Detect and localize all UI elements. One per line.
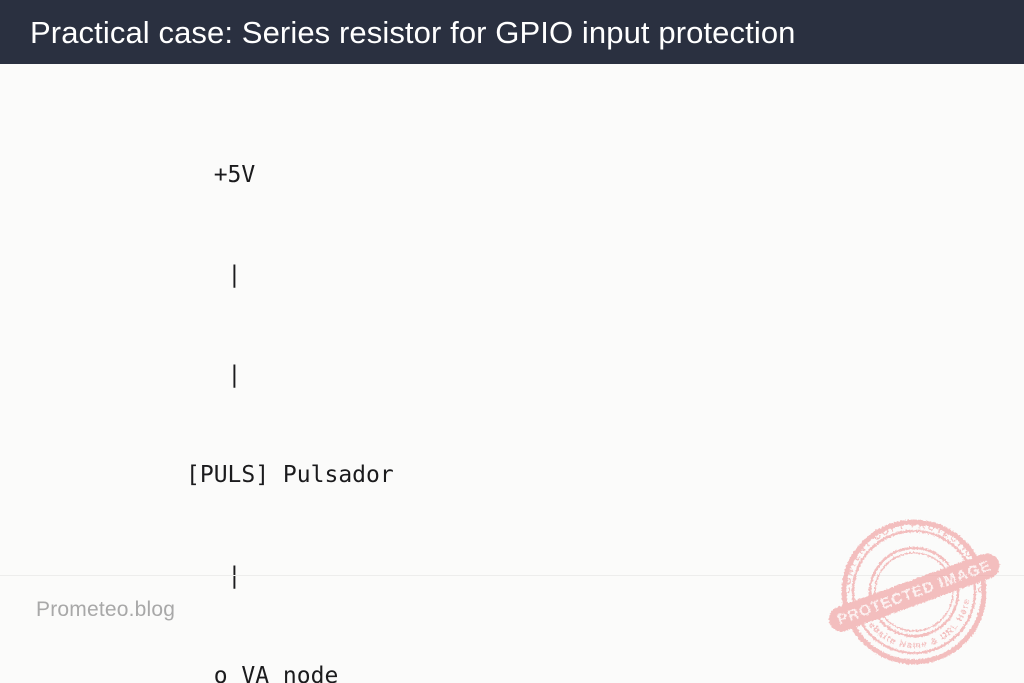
protected-image-watermark: WP CONTENT COPY PROTECTION PLUGIN My Web… bbox=[826, 504, 1002, 666]
page-title: Practical case: Series resistor for GPIO… bbox=[30, 17, 796, 48]
watermark-bottom-arc-text: My Website Name & URL Here bbox=[856, 597, 971, 650]
ascii-schematic-diagram: +5V | | [PULS] Pulsador | o VA node | [R… bbox=[186, 92, 588, 683]
footer-brand: Prometeo.blog bbox=[36, 598, 175, 622]
diagram-line-wire-3: | bbox=[186, 560, 588, 593]
diagram-line-va-node: o VA node bbox=[186, 660, 588, 683]
watermark-top-arc-text: WP CONTENT COPY PROTECTION PLUGIN bbox=[826, 504, 986, 595]
diagram-line-wire-2: | bbox=[186, 359, 588, 392]
slide-header: Practical case: Series resistor for GPIO… bbox=[0, 0, 1024, 64]
diagram-line-supply: +5V bbox=[186, 159, 588, 192]
watermark-banner-text: PROTECTED IMAGE bbox=[835, 557, 993, 628]
diagram-line-wire-1: | bbox=[186, 259, 588, 292]
watermark-banner: PROTECTED IMAGE bbox=[826, 550, 1002, 635]
diagram-line-pulsador: [PULS] Pulsador bbox=[186, 459, 588, 492]
footer-divider bbox=[0, 575, 1024, 576]
slide-canvas: Practical case: Series resistor for GPIO… bbox=[0, 0, 1024, 683]
watermark-stamp-graphic: WP CONTENT COPY PROTECTION PLUGIN My Web… bbox=[826, 504, 1002, 662]
